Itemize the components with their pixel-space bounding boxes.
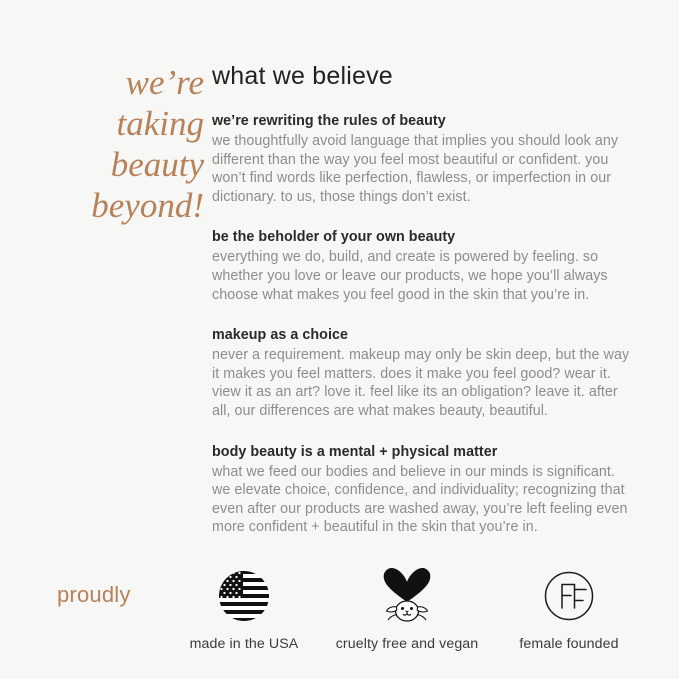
tagline-line-1: we’re <box>0 62 204 103</box>
belief-body: never a requirement. makeup may only be … <box>212 346 631 420</box>
badge-made-in-usa: made in the USA <box>159 566 329 653</box>
bunny-heart-ears-icon <box>322 566 492 626</box>
belief-heading: be the beholder of your own beauty <box>212 228 631 247</box>
badge-label: made in the USA <box>159 635 329 653</box>
belief-heading: body beauty is a mental + physical matte… <box>212 443 631 462</box>
page-root: we’re taking beauty beyond! what we beli… <box>0 0 679 679</box>
page-title: what we believe <box>212 62 631 90</box>
belief-section-body-beauty: body beauty is a mental + physical matte… <box>212 443 631 537</box>
badge-label: female founded <box>484 635 654 653</box>
belief-body: everything we do, build, and create is p… <box>212 248 631 304</box>
ff-monogram-circle-icon <box>484 566 654 626</box>
main-content: we’re taking beauty beyond! what we beli… <box>0 62 679 537</box>
tagline-column: we’re taking beauty beyond! <box>0 62 212 226</box>
usa-flag-circle-icon <box>159 566 329 626</box>
tagline-line-4: beyond! <box>0 185 204 226</box>
tagline-line-3: beauty <box>0 144 204 185</box>
badge-female-founded: female founded <box>484 566 654 653</box>
tagline-line-2: taking <box>0 103 204 144</box>
belief-heading: we’re rewriting the rules of beauty <box>212 112 631 131</box>
beliefs-column: what we believe we’re rewriting the rule… <box>212 62 679 537</box>
belief-body: we thoughtfully avoid language that impl… <box>212 132 631 206</box>
footer-badges: proudly <box>0 566 679 666</box>
belief-body: what we feed our bodies and believe in o… <box>212 463 631 537</box>
belief-section-beholder: be the beholder of your own beauty every… <box>212 228 631 304</box>
brand-tagline: we’re taking beauty beyond! <box>0 62 204 226</box>
belief-heading: makeup as a choice <box>212 326 631 345</box>
belief-section-makeup-choice: makeup as a choice never a requirement. … <box>212 326 631 420</box>
badge-cruelty-free-vegan: cruelty free and vegan <box>322 566 492 653</box>
badge-label: cruelty free and vegan <box>322 635 492 653</box>
belief-section-rewriting-rules: we’re rewriting the rules of beauty we t… <box>212 112 631 206</box>
proudly-label: proudly <box>57 582 131 608</box>
